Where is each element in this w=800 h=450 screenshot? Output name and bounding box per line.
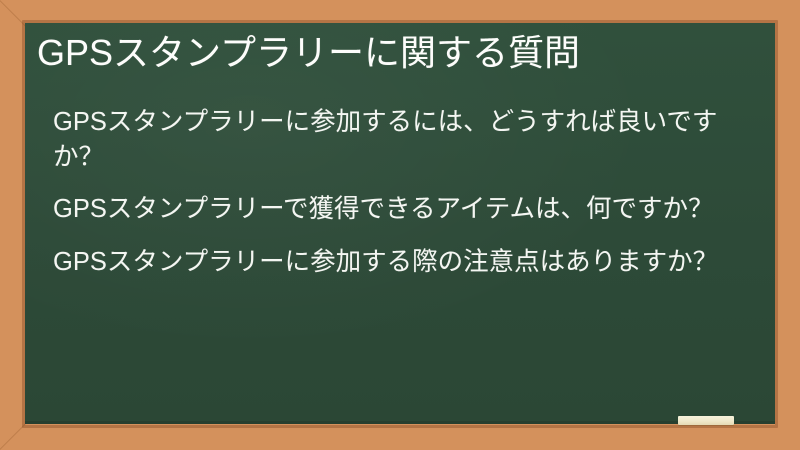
list-item: GPSスタンプラリーに参加する際の注意点はありますか？ xyxy=(53,245,743,280)
list-item: GPSスタンプラリーで獲得できるアイテムは、何ですか？ xyxy=(53,192,743,227)
chalkboard-surface: GPSスタンプラリーに関する質問 GPSスタンプラリーに参加するには、どうすれば… xyxy=(25,23,775,424)
chalk-stick-icon xyxy=(678,416,734,425)
page-title: GPSスタンプラリーに関する質問 xyxy=(37,31,755,75)
list-item: GPSスタンプラリーに参加するには、どうすれば良いですか？ xyxy=(53,105,743,174)
blackboard-frame: GPSスタンプラリーに関する質問 GPSスタンプラリーに参加するには、どうすれば… xyxy=(0,0,800,450)
mitre-bottom-left xyxy=(0,421,28,450)
question-list: GPSスタンプラリーに参加するには、どうすれば良いですか？ GPSスタンプラリー… xyxy=(53,105,743,298)
